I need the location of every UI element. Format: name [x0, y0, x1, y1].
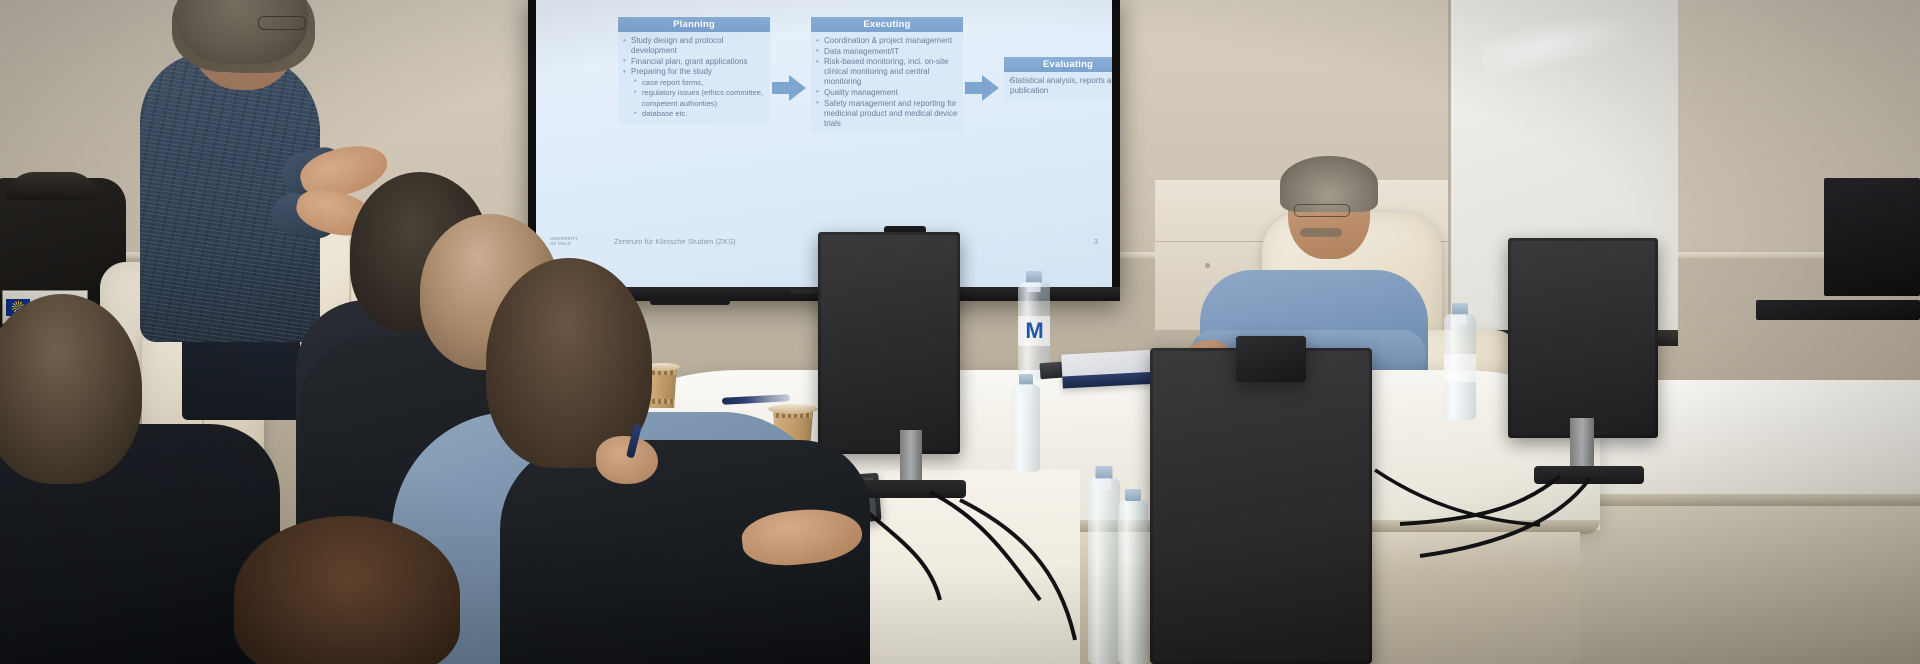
- arrow-right-icon: [772, 75, 806, 101]
- monitor-foreground[interactable]: [1150, 348, 1372, 664]
- list-item: Risk-based monitoring, incl. on-site cli…: [815, 57, 958, 87]
- list-item: case report forms,: [622, 78, 765, 88]
- university-logo-line2: OF OSLO: [550, 241, 594, 246]
- list-item: Safety management and reporting for medi…: [815, 99, 958, 129]
- slide-box-evaluating-list: Statistical analysis, reports and public…: [1004, 72, 1112, 101]
- slide-box-executing: Executing Coordination & project managem…: [811, 17, 963, 133]
- monitor-foreground-top: [1236, 336, 1306, 382]
- monitor-base: [862, 480, 966, 498]
- glasses-icon: [258, 16, 306, 30]
- slide-flow-diagram: Planning Study design and protocol devel…: [572, 17, 1092, 195]
- glasses-icon: [1294, 204, 1350, 217]
- water-bottle-foreground[interactable]: [1088, 478, 1120, 664]
- projection-screen-mount: [650, 299, 730, 305]
- desk-shelf: [1756, 300, 1920, 320]
- attendee-bottom-head: [234, 516, 460, 664]
- attendee-right-moustache: [1300, 228, 1342, 237]
- slide-box-planning: Planning Study design and protocol devel…: [618, 17, 770, 124]
- arrow-right-icon: [965, 75, 999, 101]
- list-item: regulatory issues (ethics committee, com…: [622, 88, 765, 108]
- slide-box-planning-header: Planning: [618, 17, 770, 32]
- water-bottle-far[interactable]: [1012, 384, 1040, 472]
- backpack-handle: [6, 172, 98, 200]
- slide-box-executing-list: Coordination & project management Data m…: [811, 32, 963, 133]
- slide-box-evaluating-header: Evaluating: [1004, 57, 1112, 72]
- monitor-stand: [1570, 418, 1594, 472]
- document-folder[interactable]: [1061, 349, 1161, 388]
- monitor-far-right[interactable]: [1824, 178, 1920, 296]
- water-bottle-foreground[interactable]: [1118, 500, 1148, 664]
- slide-box-evaluating: Evaluating Statistical analysis, reports…: [1004, 57, 1112, 101]
- presenter-hair: [176, 0, 308, 64]
- list-item: Data management/IT: [815, 47, 958, 57]
- university-logo: UNIVERSITY OF OSLO: [550, 236, 594, 252]
- list-item: Quality management: [815, 88, 958, 98]
- slide-page-number: 3: [1094, 237, 1098, 246]
- whiteboard-glare: [1478, 2, 1644, 82]
- slide-box-executing-header: Executing: [811, 17, 963, 32]
- list-item: Statistical analysis, reports and public…: [1008, 76, 1112, 96]
- monitor-stand: [900, 430, 922, 486]
- slide-box-planning-list: Study design and protocol development Fi…: [618, 32, 770, 124]
- list-item: database etc.: [622, 109, 765, 119]
- list-item: Coordination & project management: [815, 36, 958, 46]
- bottle-brand-mark: M: [1025, 318, 1042, 344]
- monitor-base: [1534, 466, 1644, 484]
- conference-room-scene: ...support in all stages of a clinical t…: [0, 0, 1920, 664]
- panel-dot: [1205, 263, 1210, 268]
- water-bottle-right[interactable]: [1444, 314, 1476, 420]
- list-item: Preparing for the study: [622, 67, 765, 77]
- list-item: Financial plan, grant applications: [622, 57, 765, 67]
- list-item: Study design and protocol development: [622, 36, 765, 56]
- attendee-front-2-hand: [596, 436, 658, 484]
- slide-footer-org: Zentrum für Klinische Studien (ZKS): [614, 237, 736, 246]
